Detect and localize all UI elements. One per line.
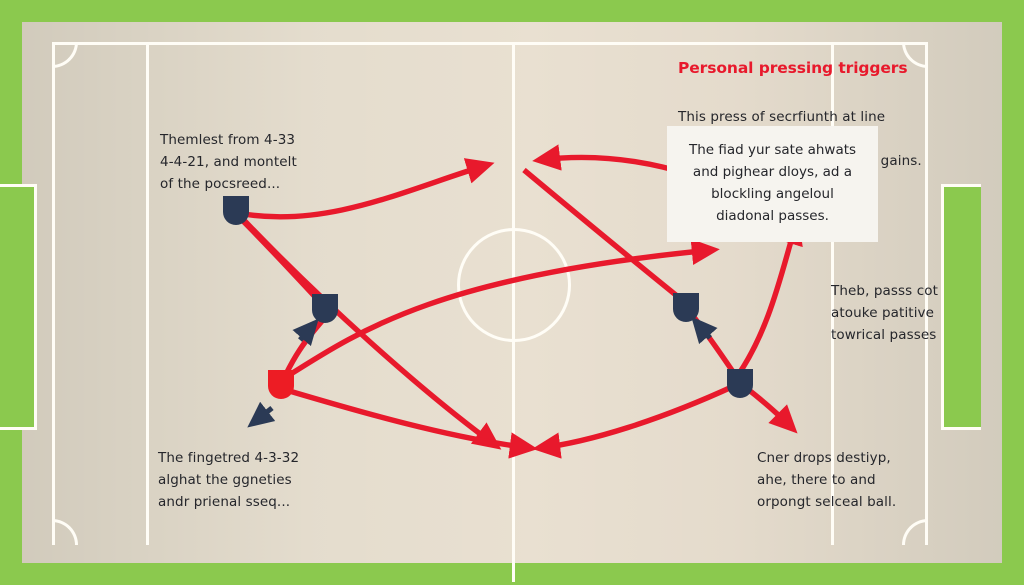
headline-title: Personal pressing triggers [678, 58, 928, 78]
note-right: Theb, passs cot atouke patitive towrical… [831, 281, 961, 347]
note-top-left: Themlest from 4-33 4-4-21, and montelt o… [160, 130, 320, 196]
centre-circle [457, 228, 571, 342]
note-bottom-left: The fingetred 4-3-32 alghat the ggneties… [158, 448, 326, 514]
goal-area-left [0, 184, 37, 430]
tactical-board: Personal pressing triggers This press of… [0, 0, 1024, 585]
callout-box: The fiad yur sate ahwats and pighear dlo… [667, 126, 878, 242]
penalty-area-left [52, 42, 149, 545]
note-bottom-right: Cner drops destiyp, ahe, there to and or… [757, 448, 932, 514]
